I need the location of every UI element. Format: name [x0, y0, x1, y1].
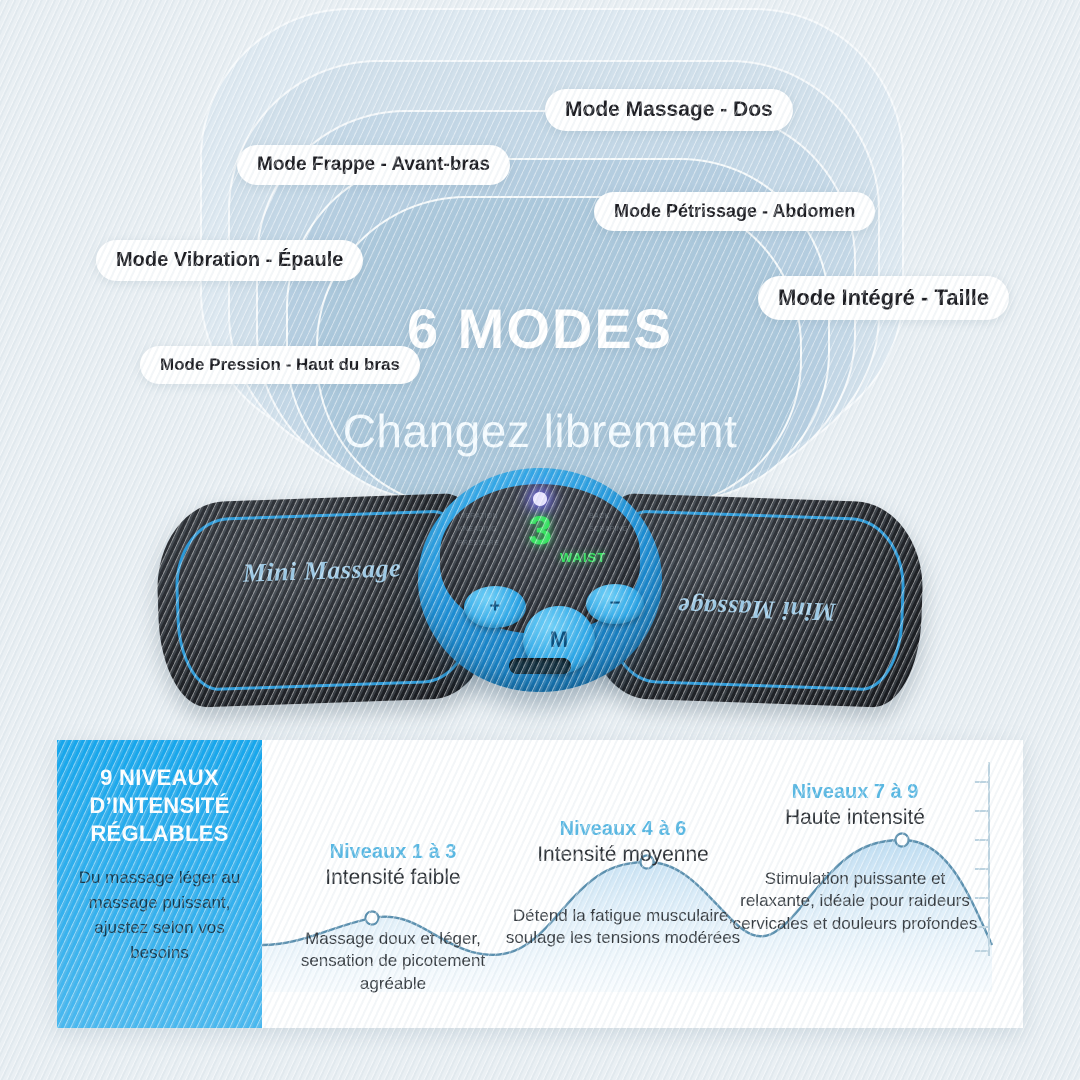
- mode-pill-massage-dos[interactable]: Mode Massage - Dos: [545, 89, 793, 131]
- mode-list-left: VIBRATIONKNEADINGPRESSURE: [458, 510, 499, 550]
- level-subtitle-low: Intensité faible: [268, 865, 518, 891]
- intensity-chart-panel: Niveaux 1 à 3 Intensité faible Massage d…: [262, 740, 1023, 1028]
- mode-pill-petrissage-abdomen[interactable]: Mode Pétrissage - Abdomen: [594, 192, 875, 231]
- chart-marker-high: [896, 834, 909, 847]
- mode-pill-vibration-epaule[interactable]: Mode Vibration - Épaule: [96, 240, 363, 281]
- level-description-high: Stimulation puissante et relaxante, idéa…: [730, 868, 980, 935]
- mode-pill-pression-haut-bras[interactable]: Mode Pression - Haut du bras: [140, 346, 420, 384]
- decrease-button[interactable]: −: [586, 584, 644, 624]
- intensity-card-left-panel: 9 NIVEAUX D’INTENSITÉ RÉGLABLES Du massa…: [57, 740, 262, 1028]
- mode-pill-frappe-avant-bras[interactable]: Mode Frappe - Avant-bras: [237, 145, 510, 185]
- level-subtitle-high: Haute intensité: [730, 805, 980, 831]
- mode-list-right: BACKSCRAPING: [589, 510, 628, 537]
- active-mode-label: WAIST: [560, 550, 606, 565]
- intensity-card-title: 9 NIVEAUX D’INTENSITÉ RÉGLABLES: [69, 764, 250, 848]
- intensity-card-body: Du massage léger au massage puissant, aj…: [69, 866, 250, 965]
- power-led-icon: [533, 492, 547, 506]
- usb-port-icon: [509, 658, 571, 674]
- level-group-low: Niveaux 1 à 3 Intensité faible Massage d…: [268, 840, 518, 891]
- intensity-card: 9 NIVEAUX D’INTENSITÉ RÉGLABLES Du massa…: [57, 740, 1023, 1028]
- level-heading-low: Niveaux 1 à 3: [268, 840, 518, 864]
- level-heading-medium: Niveaux 4 à 6: [498, 817, 748, 841]
- massager-device: Mini Massage Mini Massage VIBRATIONKNEAD…: [140, 468, 940, 728]
- level-heading-high: Niveaux 7 à 9: [730, 780, 980, 804]
- mode-pill-integre-taille[interactable]: Mode Intégré - Taille: [758, 276, 1009, 320]
- level-description-medium: Détend la fatigue musculaire, soulage le…: [498, 905, 748, 950]
- level-group-medium: Niveaux 4 à 6 Intensité moyenne Détend l…: [498, 817, 748, 868]
- level-group-high: Niveaux 7 à 9 Haute intensité Stimulatio…: [730, 780, 980, 831]
- chart-marker-low: [366, 912, 379, 925]
- infographic-page: 6 MODES Changez librement Mode Massage -…: [0, 0, 1080, 1080]
- increase-button[interactable]: +: [464, 586, 526, 628]
- intensity-display: 3: [527, 512, 552, 554]
- level-description-low: Massage doux et léger, sensation de pico…: [268, 928, 518, 995]
- level-subtitle-medium: Intensité moyenne: [498, 842, 748, 868]
- control-hub: VIBRATIONKNEADINGPRESSURE BACKSCRAPING 3…: [418, 468, 662, 692]
- hero-subtitle: Changez librement: [0, 404, 1080, 458]
